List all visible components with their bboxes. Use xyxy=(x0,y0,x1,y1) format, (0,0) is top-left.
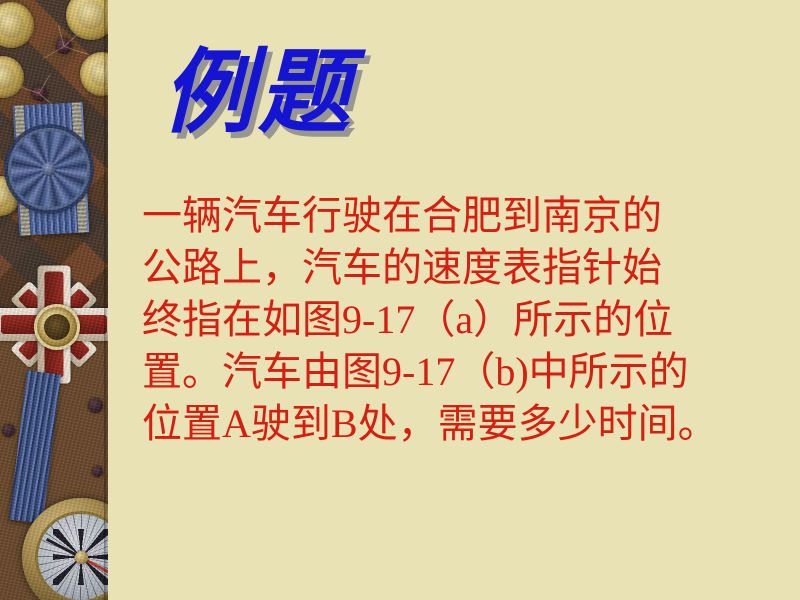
slide-title: 例题 xyxy=(162,44,354,143)
problem-line: 一辆汽车行驶在合肥到南京的 xyxy=(142,190,782,242)
problem-line: 位置A驶到B处，需要多少时间。 xyxy=(142,398,782,450)
stud-icon xyxy=(56,38,72,54)
maltese-cross-icon xyxy=(0,262,108,386)
bead-icon xyxy=(88,398,103,413)
problem-line: 置。汽车由图9-17（b)中所示的 xyxy=(142,346,782,398)
stud-icon xyxy=(32,86,47,101)
problem-line: 终指在如图9-17（a）所示的位 xyxy=(142,294,782,346)
decorative-photo-strip xyxy=(0,0,108,600)
rosette-medal-icon xyxy=(8,128,90,210)
strip-seam xyxy=(104,0,108,600)
bead-icon xyxy=(2,424,15,437)
problem-line: 公路上，汽车的速度表指针始 xyxy=(142,242,782,294)
bead-icon xyxy=(92,466,103,477)
blue-ribbon-tail-icon xyxy=(9,370,61,523)
slide-canvas: 例题 一辆汽车行驶在合肥到南京的 公路上，汽车的速度表指针始 终指在如图9-17… xyxy=(0,0,800,600)
problem-statement: 一辆汽车行驶在合肥到南京的 公路上，汽车的速度表指针始 终指在如图9-17（a）… xyxy=(142,190,782,450)
